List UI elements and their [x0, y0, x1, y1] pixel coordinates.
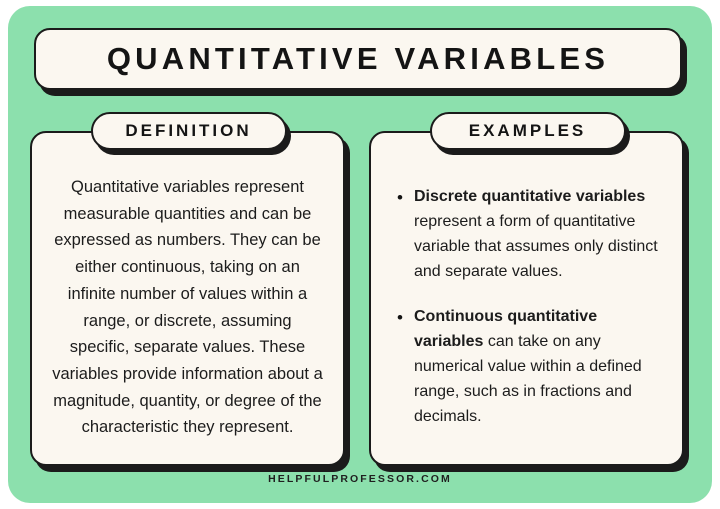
footer-attribution: helpfulprofessor.com — [268, 473, 452, 485]
bullet-icon: • — [397, 185, 403, 212]
definition-header-pill: Definition — [91, 112, 287, 150]
definition-body: Quantitative variables represent measura… — [46, 174, 329, 441]
definition-column: Quantitative variables represent measura… — [26, 112, 351, 474]
list-item-rest: represent a form of quantitative variabl… — [414, 213, 658, 280]
examples-list: • Discrete quantitative variables repres… — [385, 185, 668, 430]
content-columns: Quantitative variables represent measura… — [26, 112, 690, 474]
examples-column: • Discrete quantitative variables repres… — [365, 112, 690, 474]
page-title: Quantitative Variables — [107, 41, 609, 77]
list-item-lead: Discrete quantitative variables — [414, 188, 645, 205]
examples-card: • Discrete quantitative variables repres… — [369, 131, 684, 466]
definition-header-label: Definition — [125, 121, 251, 141]
poster-background: Quantitative Variables Quantitative vari… — [8, 6, 712, 503]
list-item: • Discrete quantitative variables repres… — [395, 185, 664, 285]
list-item: • Continuous quantitative variables can … — [395, 305, 664, 430]
examples-header-pill: Examples — [430, 112, 626, 150]
title-card: Quantitative Variables — [34, 28, 682, 90]
examples-header-label: Examples — [469, 121, 587, 141]
definition-card: Quantitative variables represent measura… — [30, 131, 345, 466]
footer: helpfulprofessor.com — [8, 469, 712, 487]
bullet-icon: • — [397, 305, 403, 332]
